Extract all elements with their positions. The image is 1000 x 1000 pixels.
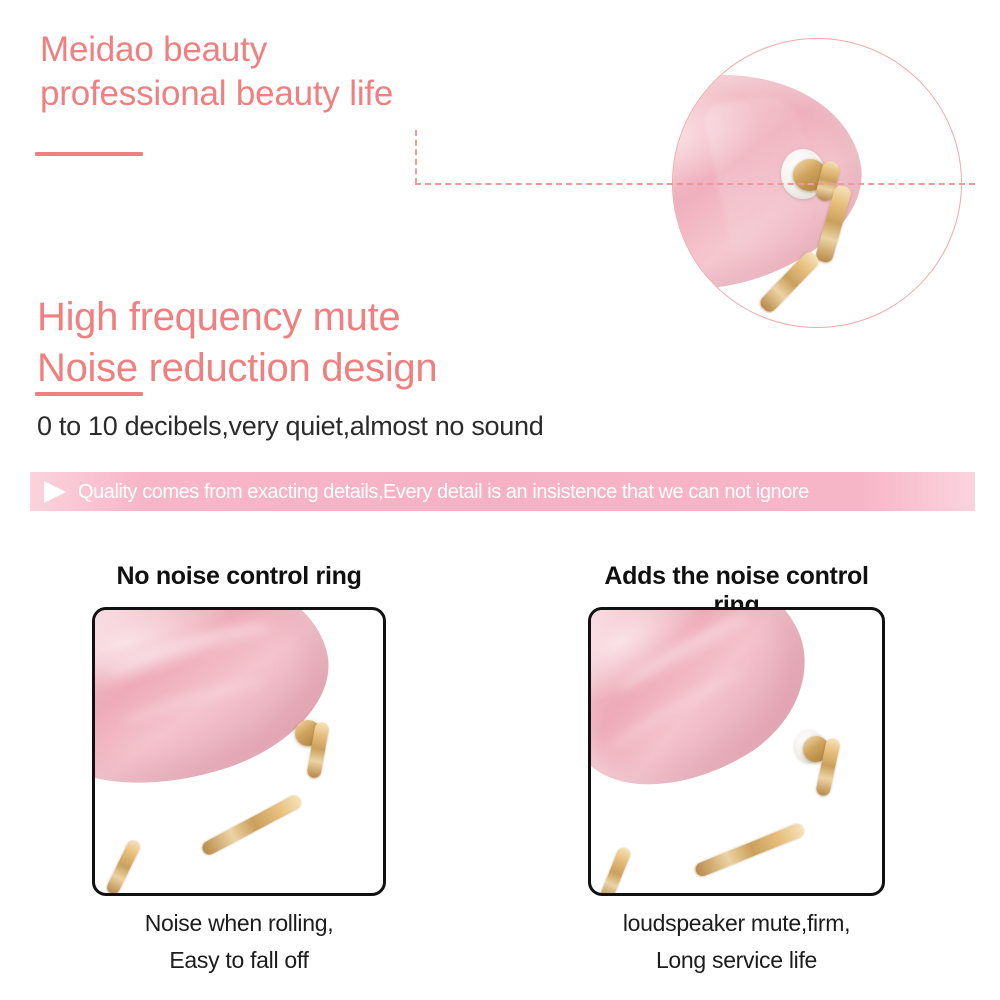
gold-wire-left-diagonal xyxy=(200,793,304,857)
comparison-photo-left xyxy=(92,607,386,896)
feature-subtitle: 0 to 10 decibels,very quiet,almost no so… xyxy=(37,410,737,444)
play-triangle-icon xyxy=(44,481,66,503)
product-marketing-page: Meidao beauty professional beauty life H… xyxy=(0,0,1000,1000)
comparison-photo-right xyxy=(588,607,885,896)
gold-wire-right-diagonal xyxy=(694,822,807,878)
photo-right-content xyxy=(591,610,882,893)
comparison-caption-right: loudspeaker mute,firm, Long service life xyxy=(588,905,885,980)
comparison-title-left: No noise control ring xyxy=(92,562,386,591)
gold-wire-left-tail xyxy=(105,838,142,893)
feature-heading-underline xyxy=(35,392,143,396)
comparison-caption-left: Noise when rolling, Easy to fall off xyxy=(92,905,386,980)
gold-wire-right-tail xyxy=(599,846,632,893)
feature-heading: High frequency mute Noise reduction desi… xyxy=(37,292,657,394)
quality-banner: Quality comes from exacting details,Ever… xyxy=(30,472,975,511)
connector-line-vertical xyxy=(415,130,417,184)
photo-left-content xyxy=(95,610,383,893)
brand-heading-underline xyxy=(35,152,143,156)
quality-banner-text: Quality comes from exacting details,Ever… xyxy=(78,482,809,502)
connector-line-horizontal xyxy=(415,183,975,185)
brand-heading: Meidao beauty professional beauty life xyxy=(40,28,600,116)
